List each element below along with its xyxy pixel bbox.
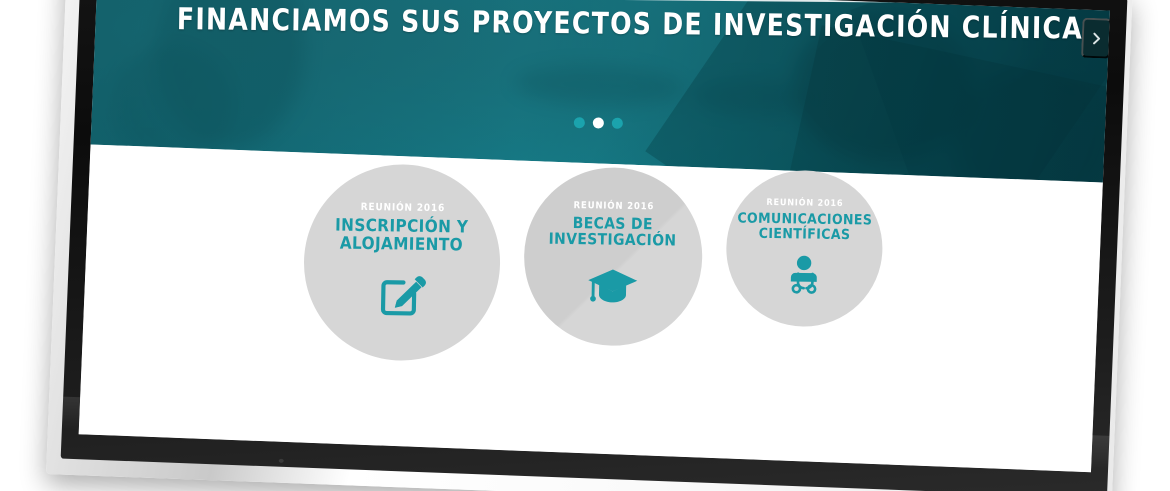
card-eyebrow: REUNIÓN 2016 bbox=[573, 200, 654, 212]
graduation-cap-icon bbox=[585, 257, 640, 312]
doctor-stethoscope-icon bbox=[780, 251, 827, 298]
screenshot-stage: INVESTIGACIÓN FINANCIAMOS SUS PROYECTOS … bbox=[0, 0, 1170, 491]
monitor-device: INVESTIGACIÓN FINANCIAMOS SUS PROYECTOS … bbox=[46, 0, 1133, 491]
monitor-led-indicator bbox=[279, 459, 284, 463]
card-eyebrow: REUNIÓN 2016 bbox=[360, 202, 445, 214]
card-title: COMUNICACIONES CIENTÍFICAS bbox=[737, 212, 872, 244]
carousel-dot-1[interactable] bbox=[574, 117, 585, 128]
card-title: INSCRIPCIÓN Y ALOJAMIENTO bbox=[335, 217, 469, 255]
card-title-line2: CIENTÍFICAS bbox=[758, 226, 850, 243]
carousel-dot-3[interactable] bbox=[612, 118, 623, 129]
screen-viewport: INVESTIGACIÓN FINANCIAMOS SUS PROYECTOS … bbox=[79, 0, 1110, 472]
carousel-next-button[interactable] bbox=[1081, 18, 1110, 59]
feature-card-comunicaciones[interactable]: REUNIÓN 2016 COMUNICACIONES CIENTÍFICAS bbox=[724, 169, 883, 327]
feature-card-inscripcion[interactable]: REUNIÓN 2016 INSCRIPCIÓN Y ALOJAMIENTO bbox=[302, 163, 502, 362]
pencil-note-icon bbox=[371, 262, 430, 321]
card-title-line2: ALOJAMIENTO bbox=[340, 234, 464, 256]
card-title: BECAS DE INVESTIGACIÓN bbox=[549, 215, 677, 250]
chevron-right-icon bbox=[1089, 31, 1103, 44]
feature-card-becas[interactable]: REUNIÓN 2016 BECAS DE INVESTIGACIÓN bbox=[522, 166, 703, 347]
feature-circles-row: REUNIÓN 2016 INSCRIPCIÓN Y ALOJAMIENTO bbox=[84, 160, 1101, 371]
carousel-dot-2[interactable] bbox=[593, 117, 604, 128]
feature-circles-section: REUNIÓN 2016 INSCRIPCIÓN Y ALOJAMIENTO bbox=[79, 144, 1103, 472]
card-title-line2: INVESTIGACIÓN bbox=[549, 230, 677, 250]
card-eyebrow: REUNIÓN 2016 bbox=[766, 198, 843, 209]
